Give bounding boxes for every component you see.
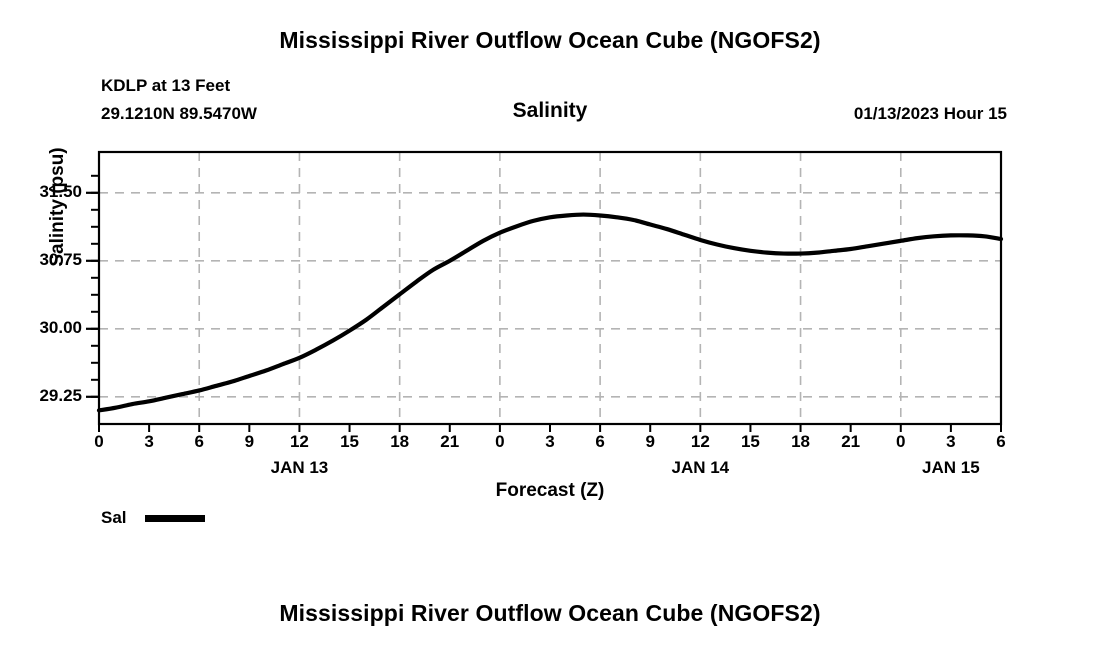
x-tick-label: 18 — [781, 432, 821, 452]
x-tick-label: 12 — [279, 432, 319, 452]
x-tick-label: 0 — [480, 432, 520, 452]
legend-label: Sal — [101, 508, 127, 528]
x-day-label: JAN 15 — [891, 458, 1011, 478]
y-tick-label: 30.00 — [2, 318, 82, 338]
x-tick-label: 3 — [530, 432, 570, 452]
x-tick-label: 3 — [931, 432, 971, 452]
data-series — [99, 215, 1001, 411]
x-tick-label: 15 — [330, 432, 370, 452]
x-day-label: JAN 14 — [640, 458, 760, 478]
data-line-sal — [99, 215, 1001, 411]
chart-page: Mississippi River Outflow Ocean Cube (NG… — [0, 0, 1100, 650]
x-tick-label: 6 — [580, 432, 620, 452]
x-day-label: JAN 13 — [239, 458, 359, 478]
x-tick-label: 12 — [680, 432, 720, 452]
x-tick-label: 18 — [380, 432, 420, 452]
grid-lines — [99, 152, 1001, 424]
y-tick-label: 31.50 — [2, 182, 82, 202]
x-tick-label: 9 — [229, 432, 269, 452]
x-tick-label: 6 — [179, 432, 219, 452]
x-tick-label: 6 — [981, 432, 1021, 452]
footer-title: Mississippi River Outflow Ocean Cube (NG… — [0, 600, 1100, 627]
x-tick-label: 3 — [129, 432, 169, 452]
x-tick-label: 0 — [79, 432, 119, 452]
axis-ticks — [86, 176, 1001, 432]
x-tick-label: 9 — [630, 432, 670, 452]
x-tick-label: 0 — [881, 432, 921, 452]
y-tick-label: 29.25 — [2, 386, 82, 406]
x-tick-label: 21 — [831, 432, 871, 452]
legend-line-swatch — [145, 515, 205, 522]
salinity-time-series-plot — [0, 0, 1100, 650]
y-tick-label: 30.75 — [2, 250, 82, 270]
x-tick-label: 21 — [430, 432, 470, 452]
legend: Sal — [101, 508, 205, 528]
x-tick-label: 15 — [730, 432, 770, 452]
